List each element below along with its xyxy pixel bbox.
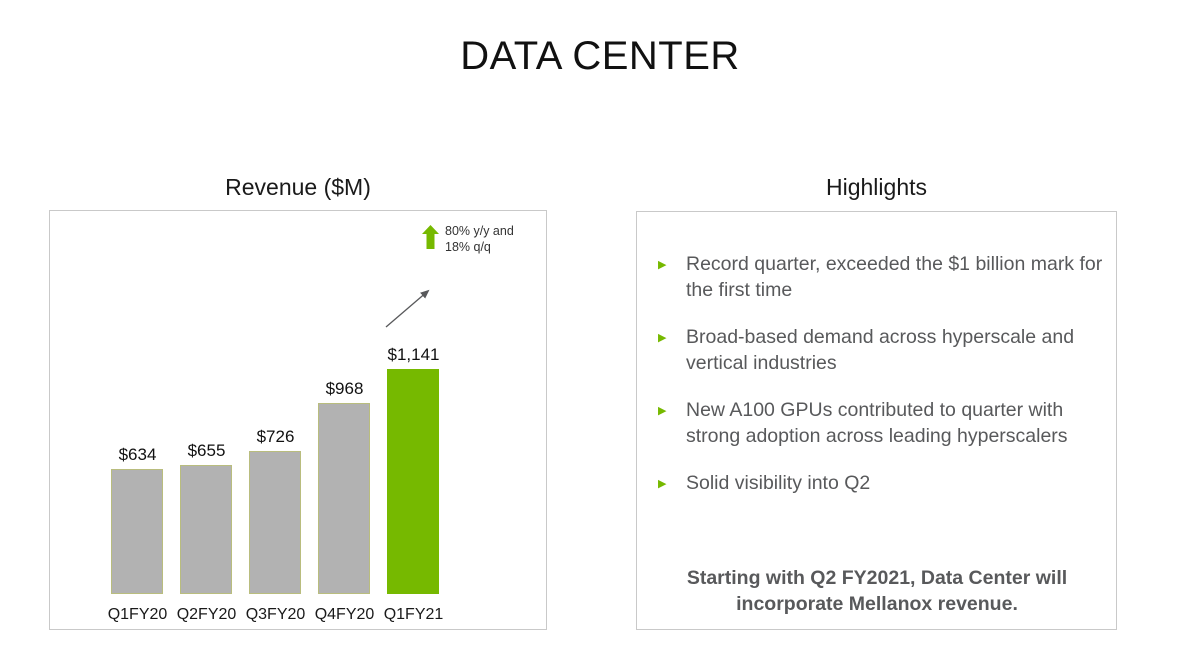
highlights-heading: Highlights (636, 174, 1117, 201)
bullet-triangle-icon: ▶ (658, 325, 686, 344)
revenue-chart-panel: $634Q1FY20$655Q2FY20$726Q3FY20$968Q4FY20… (49, 210, 547, 630)
growth-annotation: 80% y/y and 18% q/q (422, 224, 514, 255)
bar-group: $634Q1FY20 (106, 469, 169, 594)
bar-category-label: Q1FY21 (382, 606, 445, 624)
bar-category-label: Q2FY20 (175, 606, 238, 624)
bar-category-label: Q4FY20 (313, 606, 376, 624)
bullet-triangle-icon: ▶ (658, 252, 686, 271)
list-item: ▶Broad-based demand across hyperscale an… (658, 325, 1108, 377)
bar-value-label: $1,141 (382, 345, 445, 365)
bar-chart: $634Q1FY20$655Q2FY20$726Q3FY20$968Q4FY20… (50, 211, 546, 629)
bar-value-label: $655 (175, 441, 238, 461)
page-title: DATA CENTER (0, 34, 1200, 79)
bar-group: $726Q3FY20 (244, 451, 307, 594)
bar-group: $655Q2FY20 (175, 465, 238, 594)
list-item: ▶New A100 GPUs contributed to quarter wi… (658, 398, 1108, 450)
bar-value-label: $726 (244, 427, 307, 447)
bullet-text: Solid visibility into Q2 (686, 471, 1108, 497)
bar-value-label: $968 (313, 379, 376, 399)
bar-category-label: Q3FY20 (244, 606, 307, 624)
bullet-text: Record quarter, exceeded the $1 billion … (686, 252, 1108, 304)
bullet-text: New A100 GPUs contributed to quarter wit… (686, 398, 1108, 450)
list-item: ▶Solid visibility into Q2 (658, 471, 1108, 497)
up-arrow-icon (422, 225, 439, 254)
bar-group: $968Q4FY20 (313, 403, 376, 594)
bar-q4fy20 (318, 403, 370, 594)
bar-q1fy21 (387, 369, 439, 594)
bullet-triangle-icon: ▶ (658, 398, 686, 417)
bar-value-label: $634 (106, 445, 169, 465)
bar-q2fy20 (180, 465, 232, 594)
highlights-bullet-list: ▶Record quarter, exceeded the $1 billion… (658, 252, 1108, 517)
bar-q3fy20 (249, 451, 301, 594)
bar-q1fy20 (111, 469, 163, 594)
bullet-triangle-icon: ▶ (658, 471, 686, 490)
chart-heading: Revenue ($M) (49, 174, 547, 201)
list-item: ▶Record quarter, exceeded the $1 billion… (658, 252, 1108, 304)
bar-category-label: Q1FY20 (106, 606, 169, 624)
bullet-text: Broad-based demand across hyperscale and… (686, 325, 1108, 377)
growth-text: 80% y/y and 18% q/q (445, 224, 514, 255)
bar-group: $1,141Q1FY21 (382, 369, 445, 594)
highlights-footnote: Starting with Q2 FY2021, Data Center wil… (652, 566, 1102, 617)
